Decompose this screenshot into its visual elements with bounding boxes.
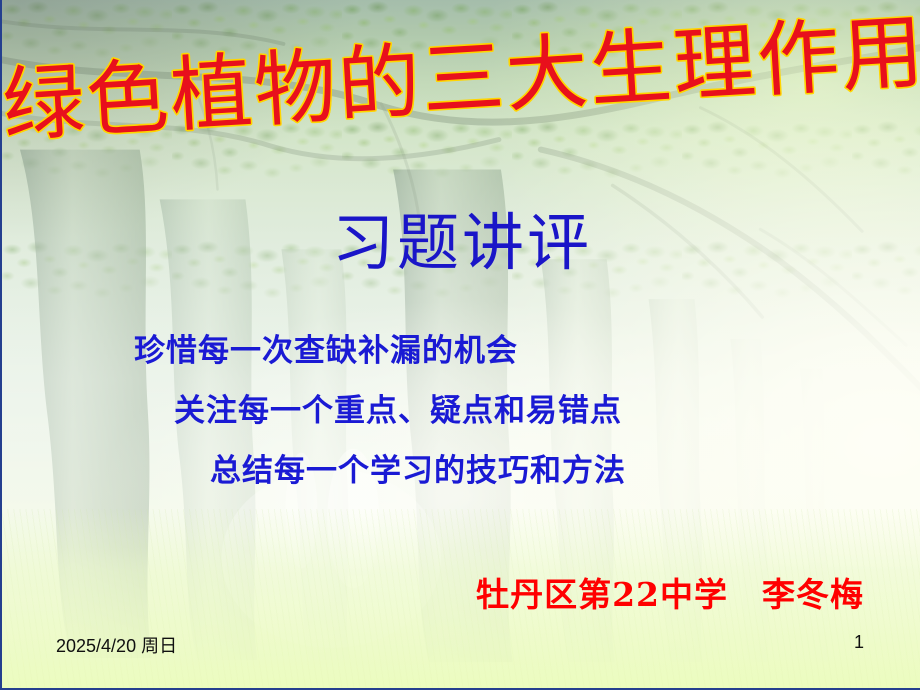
footer-date: 2025/4/20 周日 — [56, 632, 177, 658]
body-text-block: 珍惜每一次查缺补漏的机会 关注每一个重点、疑点和易错点 总结每一个学习的技巧和方… — [2, 336, 920, 487]
footer-page-number: 1 — [854, 632, 864, 653]
body-line-2: 关注每一个重点、疑点和易错点 — [2, 396, 920, 427]
author-line: 牡丹区第22中学 李冬梅 — [2, 578, 920, 611]
title-container: 绿色植物的三大生理作用 — [0, 9, 920, 152]
slide-content: 绿色植物的三大生理作用 习题讲评 珍惜每一次查缺补漏的机会 关注每一个重点、疑点… — [2, 0, 920, 688]
presentation-slide: 绿色植物的三大生理作用 习题讲评 珍惜每一次查缺补漏的机会 关注每一个重点、疑点… — [0, 0, 920, 690]
slide-subtitle: 习题讲评 — [2, 208, 920, 277]
slide-title: 绿色植物的三大生理作用 — [0, 9, 920, 152]
body-line-1: 珍惜每一次查缺补漏的机会 — [2, 336, 920, 367]
body-line-3: 总结每一个学习的技巧和方法 — [2, 456, 920, 487]
